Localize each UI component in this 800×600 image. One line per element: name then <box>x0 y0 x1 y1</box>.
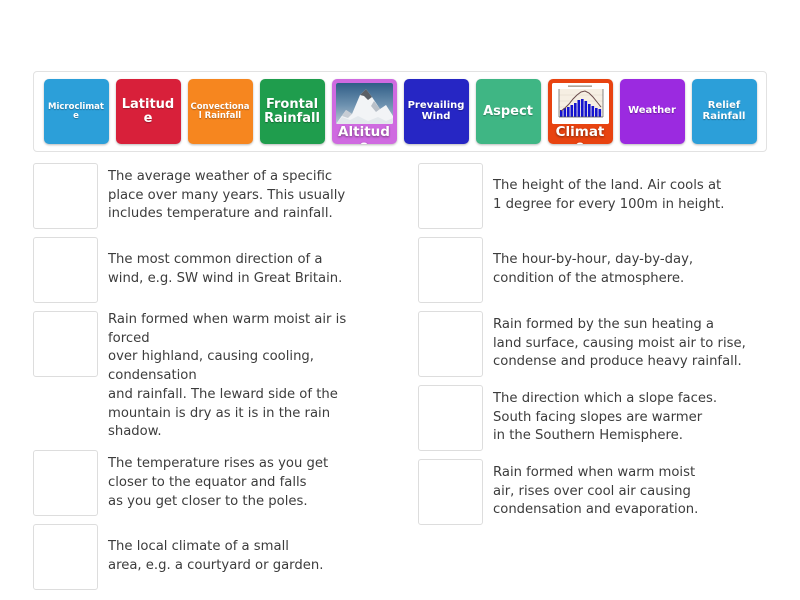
tile-aspect[interactable]: Aspect <box>476 79 541 144</box>
dropzone-right-3[interactable] <box>418 311 483 377</box>
tile-altitude[interactable]: Altitude <box>332 79 397 144</box>
definition-text: The local climate of a small area, e.g. … <box>98 524 382 590</box>
tile-label: Weather <box>620 106 685 116</box>
tile-prevailing-wind[interactable]: Prevailing Wind <box>404 79 469 144</box>
match-row: The hour-by-hour, day-by-day, condition … <box>418 237 767 303</box>
tile-microclimate[interactable]: Microclimate <box>44 79 109 144</box>
tile-label: Prevailing Wind <box>404 101 469 122</box>
tile-label: Latitude <box>116 98 181 125</box>
tile-relief-rainfall[interactable]: Relief Rainfall <box>692 79 757 144</box>
tile-frontal-rainfall[interactable]: Frontal Rainfall <box>260 79 325 144</box>
tile-label: Frontal Rainfall <box>260 98 325 125</box>
definition-text: Rain formed by the sun heating a land su… <box>483 311 767 377</box>
match-row: Rain formed when warm moist air is force… <box>33 311 382 442</box>
dropzone-right-4[interactable] <box>418 385 483 451</box>
dropzone-right-2[interactable] <box>418 237 483 303</box>
tile-weather[interactable]: Weather <box>620 79 685 144</box>
match-row: The average weather of a specific place … <box>33 163 382 229</box>
tile-label: Microclimate <box>44 103 109 121</box>
tile-convectional-rainfall[interactable]: Convectional Rainfall <box>188 79 253 144</box>
definition-columns: The average weather of a specific place … <box>33 163 767 598</box>
definition-column-left: The average weather of a specific place … <box>33 163 382 598</box>
definition-text: The most common direction of a wind, e.g… <box>98 237 382 303</box>
definition-text: The hour-by-hour, day-by-day, condition … <box>483 237 767 303</box>
dropzone-left-1[interactable] <box>33 163 98 229</box>
match-row: The temperature rises as you get closer … <box>33 450 382 516</box>
match-row: The direction which a slope faces. South… <box>418 385 767 451</box>
definition-column-right: The height of the land. Air cools at 1 d… <box>418 163 767 598</box>
match-row: The local climate of a small area, e.g. … <box>33 524 382 590</box>
mountain-photo-icon <box>336 83 393 124</box>
term-tile-tray: Microclimate Latitude Convectional Rainf… <box>33 71 767 152</box>
dropzone-left-2[interactable] <box>33 237 98 303</box>
dropzone-right-1[interactable] <box>418 163 483 229</box>
activity-canvas: Microclimate Latitude Convectional Rainf… <box>0 0 800 600</box>
match-row: The most common direction of a wind, e.g… <box>33 237 382 303</box>
match-row: The height of the land. Air cools at 1 d… <box>418 163 767 229</box>
climate-graph-icon <box>552 83 609 124</box>
tile-label: Climate <box>552 125 609 144</box>
tile-latitude[interactable]: Latitude <box>116 79 181 144</box>
tile-label: Relief Rainfall <box>692 101 757 122</box>
definition-text: The direction which a slope faces. South… <box>483 385 767 451</box>
tile-label: Convectional Rainfall <box>188 103 253 121</box>
match-row: Rain formed by the sun heating a land su… <box>418 311 767 377</box>
tile-label: Altitude <box>336 125 393 144</box>
tile-climate[interactable]: Climate <box>548 79 613 144</box>
definition-text: Rain formed when warm moist air, rises o… <box>483 459 767 525</box>
definition-text: The height of the land. Air cools at 1 d… <box>483 163 767 229</box>
match-row: Rain formed when warm moist air, rises o… <box>418 459 767 525</box>
definition-text: The temperature rises as you get closer … <box>98 450 382 516</box>
definition-text: Rain formed when warm moist air is force… <box>98 311 382 442</box>
tile-label: Aspect <box>476 105 541 119</box>
dropzone-left-4[interactable] <box>33 450 98 516</box>
dropzone-left-5[interactable] <box>33 524 98 590</box>
definition-text: The average weather of a specific place … <box>98 163 382 229</box>
dropzone-right-5[interactable] <box>418 459 483 525</box>
dropzone-left-3[interactable] <box>33 311 98 377</box>
